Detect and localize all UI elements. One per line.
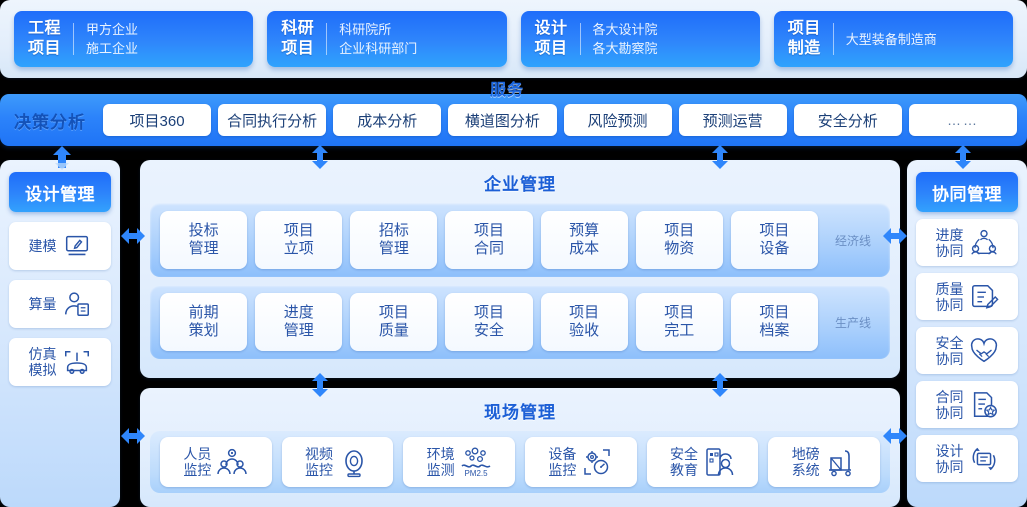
- top-card-research[interactable]: 科研 项目 科研院所 企业科研部门: [267, 11, 506, 67]
- service-tag: 服务: [490, 76, 524, 100]
- connector-arrow-right-site: [882, 425, 908, 447]
- module-label-line2: 管理: [379, 240, 409, 258]
- decision-chip-cost-analysis[interactable]: 成本分析: [333, 104, 441, 136]
- site-tile-label-line2: 系统: [792, 462, 820, 478]
- site-tile-weighbridge-system[interactable]: 地磅 系统: [768, 437, 880, 487]
- economic-line-row: 投标 管理 项目 立项 招标 管理 项目 合同 预算 成本 项目 物资: [150, 203, 890, 277]
- module-project-safety[interactable]: 项目 安全: [445, 293, 532, 351]
- site-tile-label: 安全 教育: [670, 446, 698, 478]
- top-card-strip: 工程 项目 甲方企业 施工企业 科研 项目 科研院所 企业科研部门 设计: [0, 0, 1027, 78]
- module-project-materials[interactable]: 项目 物资: [636, 211, 723, 269]
- top-card-subtitle: 各大设计院: [593, 21, 658, 38]
- decision-analysis-bar: 决策分析 项目360 合同执行分析 成本分析 横道图分析 风险预测 预测运营 安…: [0, 94, 1027, 146]
- module-label-line1: 投标: [189, 222, 219, 240]
- module-label-line2: 质量: [379, 322, 409, 340]
- module-label-line1: 项目: [474, 222, 504, 240]
- sidebar-item-label-line1: 质量: [936, 281, 964, 297]
- sidebar-item-label-line2: 协同: [936, 405, 964, 421]
- site-tile-label: 设备 监控: [548, 446, 576, 478]
- module-label-line1: 预算: [569, 222, 599, 240]
- module-label-line2: 立项: [284, 240, 314, 258]
- dust-wave-icon: PM2.5: [460, 446, 492, 478]
- sidebar-item-label-line1: 设计: [936, 443, 964, 459]
- decision-chip-project360[interactable]: 项目360: [103, 104, 211, 136]
- sidebar-item-label-line1: 进度: [936, 227, 964, 243]
- top-card-engineering[interactable]: 工程 项目 甲方企业 施工企业: [14, 11, 253, 67]
- module-label-line1: 项目: [379, 304, 409, 322]
- left-sidebar-header: 设计管理: [9, 172, 111, 212]
- top-card-title-line1: 工程: [28, 19, 61, 39]
- document-refresh-icon: [969, 444, 999, 474]
- module-label-line1: 项目: [759, 304, 789, 322]
- module-project-initiation[interactable]: 项目 立项: [255, 211, 342, 269]
- decision-chip-safety-analysis[interactable]: 安全分析: [794, 104, 902, 136]
- site-tile-environment-monitoring[interactable]: 环境 监测 PM2.5: [403, 437, 515, 487]
- production-line-tag: 生产线: [826, 314, 880, 331]
- connector-arrow-updown-center-left: [309, 144, 331, 170]
- weighbridge-icon: [825, 446, 857, 478]
- module-label-line1: 项目: [569, 304, 599, 322]
- sidebar-item-quality-collaboration[interactable]: 质量 协同: [916, 273, 1018, 320]
- site-tiles-row: 人员 监控 视频 监控: [150, 431, 890, 493]
- module-project-contract[interactable]: 项目 合同: [445, 211, 532, 269]
- sidebar-item-label-line1: 合同: [936, 389, 964, 405]
- site-tile-label-line1: 人员: [183, 446, 211, 462]
- top-card-title-line1: 项目: [788, 19, 821, 39]
- top-card-title-line2: 项目: [281, 39, 314, 59]
- connector-arrow-left-site: [120, 425, 146, 447]
- module-label-line2: 验收: [569, 322, 599, 340]
- sidebar-item-label: 建模: [29, 238, 57, 254]
- decision-chip-contract-execution[interactable]: 合同执行分析: [218, 104, 326, 136]
- worker-board-icon: [703, 446, 735, 478]
- site-tile-label-line1: 设备: [548, 446, 576, 462]
- sidebar-item-label-line1: 仿真: [29, 346, 57, 362]
- sidebar-item-schedule-collaboration[interactable]: 进度 协同: [916, 219, 1018, 266]
- handshake-heart-icon: [969, 336, 999, 366]
- people-network-icon: [969, 228, 999, 258]
- decision-chip-risk-forecast[interactable]: 风险预测: [564, 104, 672, 136]
- site-tile-label-line2: 教育: [670, 462, 698, 478]
- sidebar-item-label-line1: 安全: [936, 335, 964, 351]
- simulation-scan-icon: [62, 347, 92, 377]
- module-bid-management[interactable]: 投标 管理: [160, 211, 247, 269]
- production-line-row: 前期 策划 进度 管理 项目 质量 项目 安全 项目 验收 项目 完工: [150, 285, 890, 359]
- module-label-line2: 安全: [474, 322, 504, 340]
- sidebar-item-label-line2: 协同: [936, 297, 964, 313]
- economic-line-tag: 经济线: [826, 232, 880, 249]
- pm-caption: PM2.5: [464, 469, 488, 478]
- top-card-title-line2: 制造: [788, 39, 821, 59]
- top-card-subtitles: 各大设计院 各大勘察院: [593, 21, 658, 57]
- decision-chip-forecast-operation[interactable]: 预测运营: [679, 104, 787, 136]
- module-project-equipment[interactable]: 项目 设备: [731, 211, 818, 269]
- top-card-subtitle: 大型装备制造商: [846, 31, 937, 48]
- monitor-pen-icon: [62, 231, 92, 261]
- site-tile-label-line2: 监测: [427, 462, 455, 478]
- module-project-acceptance[interactable]: 项目 验收: [541, 293, 628, 351]
- left-sidebar-design-management: 设计管理 建模 算量 仿真 模拟: [0, 160, 120, 507]
- site-tile-label-line1: 安全: [670, 446, 698, 462]
- module-label-line2: 合同: [474, 240, 504, 258]
- sidebar-item-label: 质量 协同: [936, 281, 964, 313]
- top-card-manufacturing[interactable]: 项目 制造 大型装备制造商: [774, 11, 1013, 67]
- top-card-subtitle: 施工企业: [86, 40, 138, 57]
- site-tile-equipment-monitoring[interactable]: 设备 监控: [525, 437, 637, 487]
- divider: [73, 23, 74, 55]
- sidebar-item-modeling[interactable]: 建模: [9, 222, 111, 270]
- sidebar-item-label: 合同 协同: [936, 389, 964, 421]
- sidebar-item-label-line2: 协同: [936, 243, 964, 259]
- sidebar-item-label-line2: 协同: [936, 351, 964, 367]
- site-tile-label-line2: 监控: [305, 462, 333, 478]
- sidebar-item-label-line2: 模拟: [29, 362, 57, 378]
- module-label-line2: 管理: [189, 240, 219, 258]
- document-star-icon: [969, 390, 999, 420]
- top-card-design[interactable]: 设计 项目 各大设计院 各大勘察院: [521, 11, 760, 67]
- gear-gauge-icon: [581, 446, 613, 478]
- site-tile-label-line1: 视频: [305, 446, 333, 462]
- sidebar-item-label: 安全 协同: [936, 335, 964, 367]
- top-card-subtitle: 各大勘察院: [593, 40, 658, 57]
- site-tile-label: 人员 监控: [183, 446, 211, 478]
- module-label-line2: 管理: [284, 322, 314, 340]
- module-label-line2: 成本: [569, 240, 599, 258]
- module-tender-management[interactable]: 招标 管理: [350, 211, 437, 269]
- module-label-line1: 进度: [284, 304, 314, 322]
- connector-arrow-up-bottom-left: [309, 372, 331, 398]
- enterprise-management-panel: 企业管理 投标 管理 项目 立项 招标 管理 项目 合同 预算 成本: [140, 160, 900, 378]
- divider: [580, 23, 581, 55]
- top-card-title-line2: 项目: [28, 39, 61, 59]
- sidebar-item-label: 算量: [29, 296, 57, 312]
- enterprise-panel-title: 企业管理: [140, 160, 900, 203]
- sidebar-item-design-collaboration[interactable]: 设计 协同: [916, 435, 1018, 482]
- sidebar-item-label: 进度 协同: [936, 227, 964, 259]
- top-card-title-line1: 科研: [281, 19, 314, 39]
- site-management-panel: 现场管理 人员 监控 视频: [140, 388, 900, 507]
- site-tile-video-monitoring[interactable]: 视频 监控: [282, 437, 394, 487]
- site-tile-label-line1: 环境: [427, 446, 455, 462]
- right-sidebar-header: 协同管理: [916, 172, 1018, 212]
- module-label-line1: 项目: [474, 304, 504, 322]
- site-tile-label-line2: 监控: [183, 462, 211, 478]
- module-label-line1: 项目: [664, 222, 694, 240]
- dashboard-stage: 工程 项目 甲方企业 施工企业 科研 项目 科研院所 企业科研部门 设计: [0, 0, 1027, 507]
- decision-chip-gantt-analysis[interactable]: 横道图分析: [448, 104, 556, 136]
- site-tile-label: 环境 监测: [427, 446, 455, 478]
- sidebar-item-quantity[interactable]: 算量: [9, 280, 111, 328]
- module-budget-cost[interactable]: 预算 成本: [541, 211, 628, 269]
- top-card-title: 工程 项目: [28, 19, 61, 59]
- site-tile-label-line2: 监控: [548, 462, 576, 478]
- connector-arrow-left-enterprise: [120, 225, 146, 247]
- top-card-subtitle: 企业科研部门: [339, 40, 417, 57]
- top-card-title-line2: 项目: [535, 39, 568, 59]
- connector-arrow-updown-right: [952, 144, 974, 170]
- person-clipboard-icon: [62, 289, 92, 319]
- top-card-title: 科研 项目: [281, 19, 314, 59]
- module-project-quality[interactable]: 项目 质量: [350, 293, 437, 351]
- module-schedule-management[interactable]: 进度 管理: [255, 293, 342, 351]
- module-label-line1: 项目: [664, 304, 694, 322]
- site-panel-title: 现场管理: [140, 388, 900, 431]
- module-label-line2: 设备: [759, 240, 789, 258]
- top-card-subtitle: 科研院所: [339, 21, 417, 38]
- decision-chip-more[interactable]: ……: [909, 104, 1017, 136]
- sidebar-item-label-line2: 协同: [936, 459, 964, 475]
- site-tile-label: 视频 监控: [305, 446, 333, 478]
- divider: [326, 23, 327, 55]
- sidebar-item-safety-collaboration[interactable]: 安全 协同: [916, 327, 1018, 374]
- sidebar-item-label: 仿真 模拟: [29, 346, 57, 378]
- top-card-title: 项目 制造: [788, 19, 821, 59]
- people-monitor-icon: [216, 446, 248, 478]
- decision-analysis-label: 决策分析: [8, 108, 96, 133]
- module-early-planning[interactable]: 前期 策划: [160, 293, 247, 351]
- document-pen-icon: [969, 282, 999, 312]
- module-label-line1: 项目: [759, 222, 789, 240]
- module-project-archive[interactable]: 项目 档案: [731, 293, 818, 351]
- connector-arrow-right-enterprise: [882, 225, 908, 247]
- top-card-title-line1: 设计: [535, 19, 568, 39]
- divider: [833, 23, 834, 55]
- sidebar-item-simulation[interactable]: 仿真 模拟: [9, 338, 111, 386]
- connector-arrow-updown-center-right: [709, 144, 731, 170]
- module-label-line2: 完工: [664, 322, 694, 340]
- module-label-line2: 策划: [189, 322, 219, 340]
- connector-arrow-up-bottom-right: [709, 372, 731, 398]
- sidebar-item-contract-collaboration[interactable]: 合同 协同: [916, 381, 1018, 428]
- connector-arrow-up-left: [51, 144, 73, 170]
- module-label-line2: 档案: [759, 322, 789, 340]
- module-label-line1: 项目: [284, 222, 314, 240]
- module-label-line1: 前期: [189, 304, 219, 322]
- module-label-line2: 物资: [664, 240, 694, 258]
- top-card-subtitles: 甲方企业 施工企业: [86, 21, 138, 57]
- top-card-title: 设计 项目: [535, 19, 568, 59]
- site-tile-personnel-monitoring[interactable]: 人员 监控: [160, 437, 272, 487]
- top-card-subtitles: 科研院所 企业科研部门: [339, 21, 417, 57]
- module-label-line1: 招标: [379, 222, 409, 240]
- top-card-subtitle: 甲方企业: [86, 21, 138, 38]
- sidebar-item-label: 设计 协同: [936, 443, 964, 475]
- camera-icon: [338, 446, 370, 478]
- module-project-completion[interactable]: 项目 完工: [636, 293, 723, 351]
- top-card-subtitles: 大型装备制造商: [846, 31, 937, 48]
- site-tile-label-line1: 地磅: [792, 446, 820, 462]
- right-sidebar-collaboration-management: 协同管理 进度 协同 质量 协同: [907, 160, 1027, 507]
- site-tile-safety-education[interactable]: 安全 教育: [647, 437, 759, 487]
- site-tile-label: 地磅 系统: [792, 446, 820, 478]
